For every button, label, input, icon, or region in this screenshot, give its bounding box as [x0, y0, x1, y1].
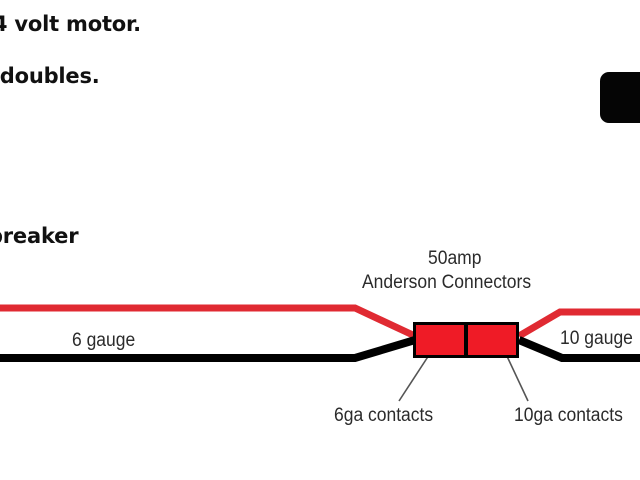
negative-wire-left [0, 340, 415, 358]
right-contacts-label: 10ga contacts [514, 405, 623, 427]
connector-block-10ga [465, 322, 519, 358]
connector-name-label: Anderson Connectors [362, 272, 531, 294]
left-wire-gauge-label: 6 gauge [72, 330, 135, 352]
diagram-canvas: for 24 volt motor. tage doubles. cuit br… [0, 0, 640, 480]
leader-line-6ga-contacts [399, 352, 431, 401]
positive-wire-left [0, 308, 415, 336]
connector-amp-rating-label: 50amp [428, 248, 481, 270]
connector-block-6ga [413, 322, 467, 358]
right-wire-gauge-label: 10 gauge [560, 328, 633, 350]
leader-line-10ga-contacts [505, 352, 528, 401]
left-contacts-label: 6ga contacts [334, 405, 433, 427]
